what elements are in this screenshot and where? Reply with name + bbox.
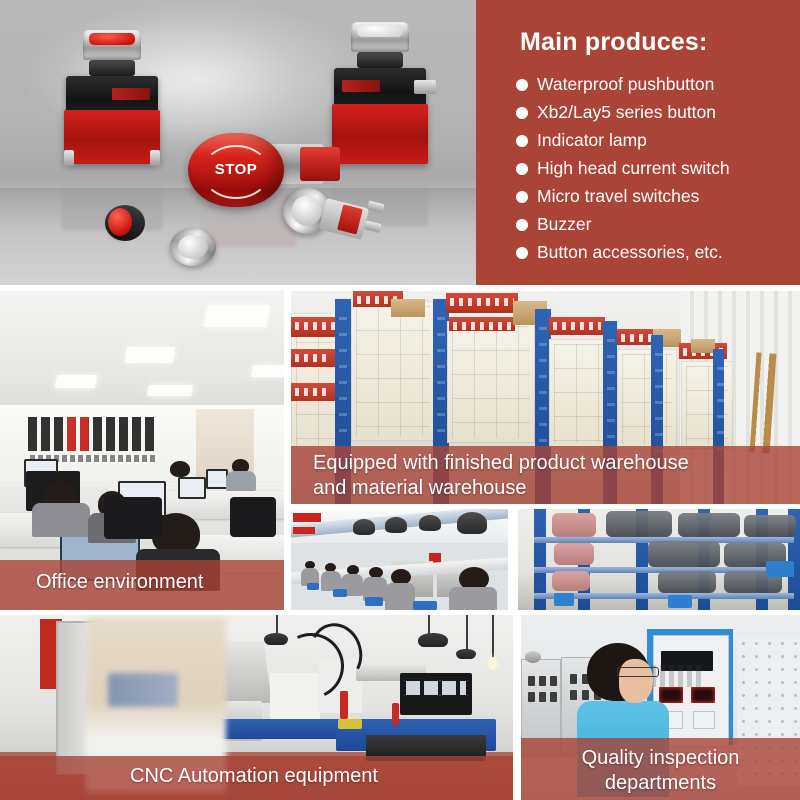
shelf-panel [681,361,733,449]
list-item: Indicator lamp [516,128,792,153]
shelf-panel [447,321,535,443]
square-pushbutton-white [330,22,430,172]
list-item: Waterproof pushbutton [516,72,792,97]
cnc-caption: CNC Automation equipment [0,756,513,800]
led-display [659,687,683,703]
terminal-tab [414,80,436,94]
red-carton [449,317,515,331]
production-line-photo [291,509,508,610]
button-neck [357,52,403,68]
extractor-hood [419,515,441,531]
person-body [226,471,256,491]
ceiling-light [204,305,270,327]
bullet-icon [516,135,528,147]
quality-inspection-photo: Quality inspection departments [521,615,800,800]
cabinet-switch [582,690,589,700]
list-item: Xb2/Lay5 series button [516,100,792,125]
list-item-label: High head current switch [537,156,730,181]
lamp-cord [276,615,278,635]
parts-bin [365,597,383,606]
socket-outlet [693,711,715,729]
cabinet-switch [528,676,535,686]
lamp-cord [492,615,494,659]
bullet-icon [516,219,528,231]
stop-label: STOP [188,161,284,178]
main-produces-panel: Main produces: Waterproof pushbutton Xb2… [476,0,800,285]
cabinet-switch [550,692,557,702]
main-produces-title: Main produces: [520,28,708,57]
button-cap-red [108,208,132,236]
red-carton [291,317,339,337]
bullet-icon [516,107,528,119]
person-body [32,503,90,537]
glasses-icon [617,667,659,677]
stop-contact-block [300,147,340,181]
brand-mark [112,88,150,100]
red-carton [291,349,335,367]
monitor [206,469,228,489]
cnc-automation-photo: CNC Automation equipment [0,615,513,800]
pendant-lamp [264,633,288,645]
cabinet-switch [539,692,546,702]
indicator-tower [340,691,348,719]
bullet-icon [516,79,528,91]
material-storage-photo [518,509,800,610]
cardboard-carton [691,339,715,353]
lamp-cord [466,615,468,651]
shelf-panel [351,301,435,441]
terminal-tab [367,200,385,213]
contact-block-red [64,110,160,164]
red-sign [293,527,315,534]
indicator-tower [392,703,399,725]
terminal-tab [364,220,382,233]
shelf-panel [617,349,677,449]
list-item-label: Waterproof pushbutton [537,72,714,97]
parts-bin [413,601,437,610]
cardboard-carton [391,299,425,317]
bullet-icon [516,247,528,259]
stop-head: STOP [188,133,284,207]
worker-body [449,587,497,610]
ceiling-light [147,385,193,396]
ceiling-light [125,347,176,363]
material-bag [554,543,594,565]
material-bag [552,571,590,591]
material-bag [744,515,796,537]
parts-bin [766,561,794,577]
parts-bin [554,593,574,606]
terminal-left [64,150,74,166]
person-head [170,461,190,477]
material-bag [648,541,720,567]
gauge-icon [525,651,541,663]
office-environment-photo: Office environment [0,291,284,610]
main-produces-list: Waterproof pushbutton Xb2/Lay5 series bu… [516,72,792,268]
red-carton [446,293,518,313]
foreground-logo-blur [108,673,178,707]
button-cap-white [351,22,409,52]
brand-mark [342,80,380,92]
extractor-hood [457,512,487,534]
monitor-screen [208,471,226,487]
cabinet-switch [528,692,535,702]
red-carton [549,317,605,335]
button-neck [89,60,135,76]
bullet-icon [516,191,528,203]
led-display [691,687,715,703]
list-item: High head current switch [516,156,792,181]
extractor-hood [385,517,407,533]
caption-line: and material warehouse [313,476,800,501]
bullet-icon [516,163,528,175]
red-sign [293,513,321,522]
list-item-label: Xb2/Lay5 series button [537,100,716,125]
warehouse-caption: Equipped with finished product warehouse… [291,446,800,504]
product-collage: STOP Main produces: Waterproof pushbutto… [0,0,800,800]
metal-round-button-front [170,228,216,266]
list-item-label: Indicator lamp [537,128,647,153]
material-bag [658,571,716,593]
pendant-lamp [418,633,448,647]
pendant-lamp [456,649,476,659]
list-item-label: Button accessories, etc. [537,240,723,265]
caption-line: CNC Automation equipment [130,764,513,789]
contact-block-red [332,104,428,164]
monitor-screen [180,479,204,497]
list-item: Button accessories, etc. [516,240,792,265]
terminal-right [150,150,160,166]
warehouse-photo: Equipped with finished product warehouse… [291,291,800,504]
small-round-button-black [105,205,145,241]
material-bag [606,511,672,537]
monitor [178,477,206,499]
office-chair [104,497,162,539]
worker-body [321,571,341,591]
button-cap-red [83,30,141,60]
quality-caption: Quality inspection departments [521,738,800,800]
cabinet-switch [539,676,546,686]
cabinet-switch [550,676,557,686]
caption-line: Office environment [36,570,284,595]
parts-bin [333,589,347,597]
parts-bin [668,595,692,608]
control-display [400,673,472,715]
caption-line: departments [521,771,800,796]
light-bulb [488,657,497,670]
caption-line: Equipped with finished product warehouse [313,451,800,476]
button-illumination-ring [178,235,207,259]
red-carton [291,383,335,401]
extractor-hood [353,519,375,535]
ceiling-light [251,365,284,377]
material-bag [552,513,596,537]
warning-label [338,719,362,729]
cabinet-switch [570,674,577,684]
parts-bin [307,583,319,590]
button-body-black [334,68,426,108]
product-photo-pushbuttons: STOP [0,0,476,285]
office-chair [230,497,276,537]
square-pushbutton-red [62,30,162,175]
ceiling-light [55,375,97,388]
office-caption: Office environment [0,560,284,610]
list-item: Micro travel switches [516,184,792,209]
wall-slogan-calligraphy [28,417,158,451]
technician-face [619,659,653,703]
caption-line: Quality inspection [521,746,800,771]
material-bag [678,513,740,537]
list-item: Buzzer [516,212,792,237]
list-item-label: Buzzer [537,212,591,237]
worker-body [385,583,415,610]
cabinet-switch [570,690,577,700]
lamp-cord [428,615,430,635]
list-item-label: Micro travel switches [537,184,699,209]
